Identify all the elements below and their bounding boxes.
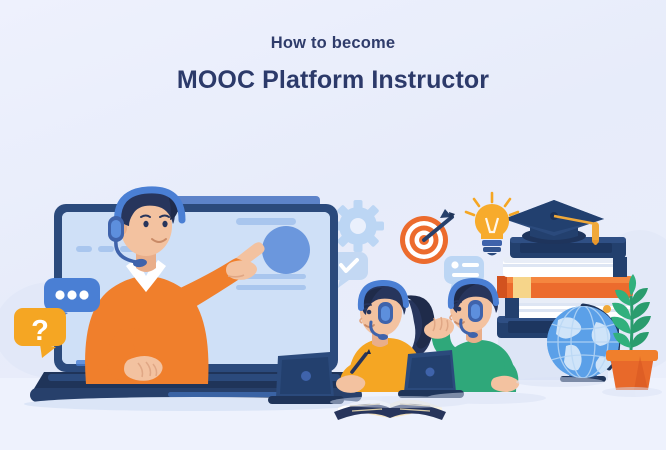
target-icon — [400, 209, 455, 264]
page-title: MOOC Platform Instructor — [0, 65, 666, 95]
heading-block: How to become MOOC Platform Instructor — [0, 34, 666, 95]
heading-eyebrow: How to become — [0, 34, 666, 54]
svg-text:?: ? — [31, 315, 49, 347]
illustration-banner: How to become MOOC Platform Instructor — [0, 0, 666, 450]
gear-icon — [332, 200, 384, 252]
